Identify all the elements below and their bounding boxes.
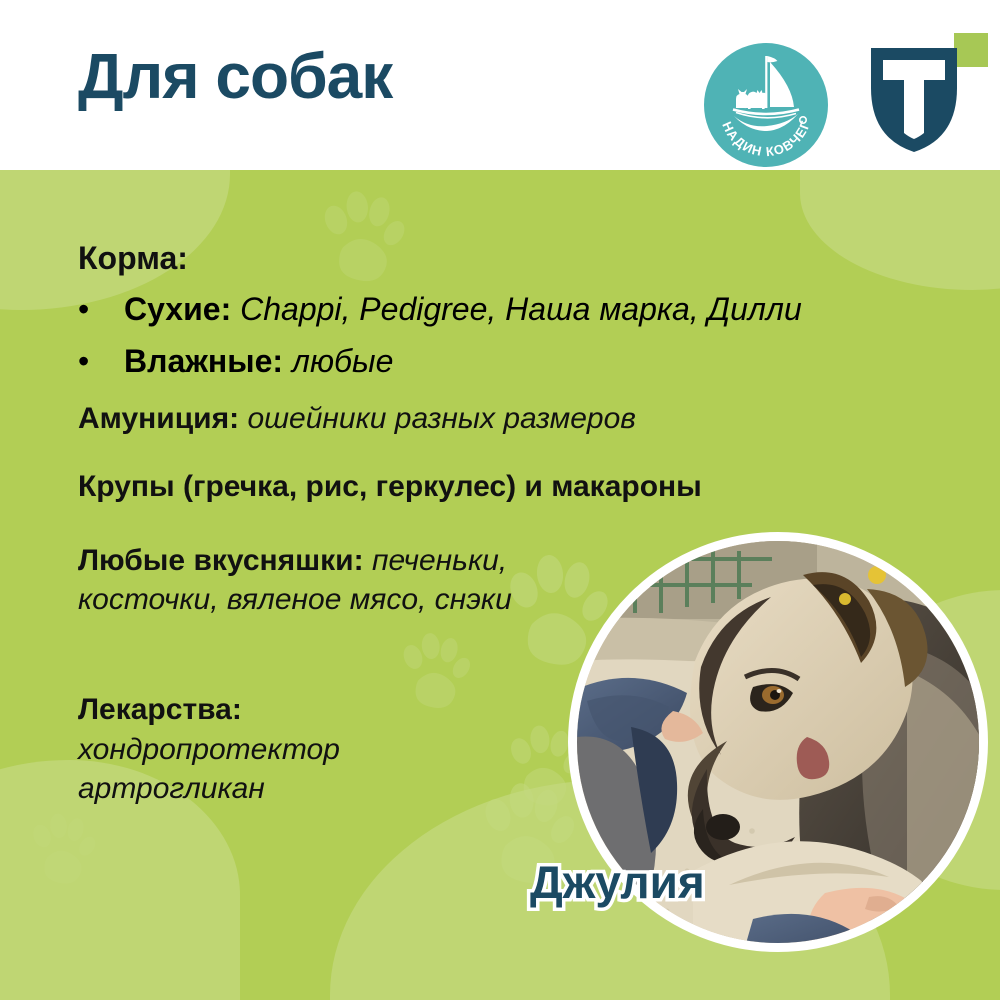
ammunition-row: Амуниция: ошейники разных размеров [78, 404, 636, 434]
fund-shield-logo [851, 30, 991, 160]
list-item-text: Сухие: Chappi, Pedigree, Наша марка, Дил… [124, 293, 802, 325]
dog-icon [748, 90, 767, 109]
nadin-ark-logo: НАДИН КОВЧЕГ [703, 42, 829, 168]
ammunition-value: ошейники разных размеров [247, 402, 636, 435]
food-heading: Корма: [78, 240, 188, 277]
medicine-value: хондропротектор артрогликан [78, 733, 340, 806]
bullet-icon: • [78, 293, 89, 325]
ear-tag [868, 566, 886, 584]
list-item-value: Chappi, Pedigree, Наша марка, Дилли [240, 291, 802, 327]
ammunition-label: Амуниция: [78, 402, 239, 435]
list-item-value: любые [292, 343, 393, 379]
decor-blob-top-right [800, 170, 1000, 290]
header: Для собак [0, 0, 1000, 170]
page-title: Для собак [78, 44, 392, 108]
grains-row: Крупы (гречка, рис, геркулес) и макароны [78, 472, 702, 502]
treats-row: Любые вкусняшки: печеньки, косточки, вял… [78, 541, 598, 619]
list-item-label: Влажные: [124, 343, 283, 379]
medicine-label: Лекарства: [78, 693, 242, 726]
poster: Для собак [0, 0, 1000, 1000]
bullet-icon: • [78, 345, 89, 377]
paw-print-icon [318, 188, 408, 288]
accent-square [954, 33, 988, 67]
treats-label: Любые вкусняшки: [78, 544, 364, 577]
dog-nose [706, 814, 740, 840]
dog-name-caption: Джулия [530, 855, 705, 909]
list-item-text: Влажные: любые [124, 345, 393, 377]
paw-print-icon [28, 810, 98, 890]
list-item-label: Сухие: [124, 291, 231, 327]
medicine-row: Лекарства: хондропротектор артрогликан [78, 690, 508, 809]
